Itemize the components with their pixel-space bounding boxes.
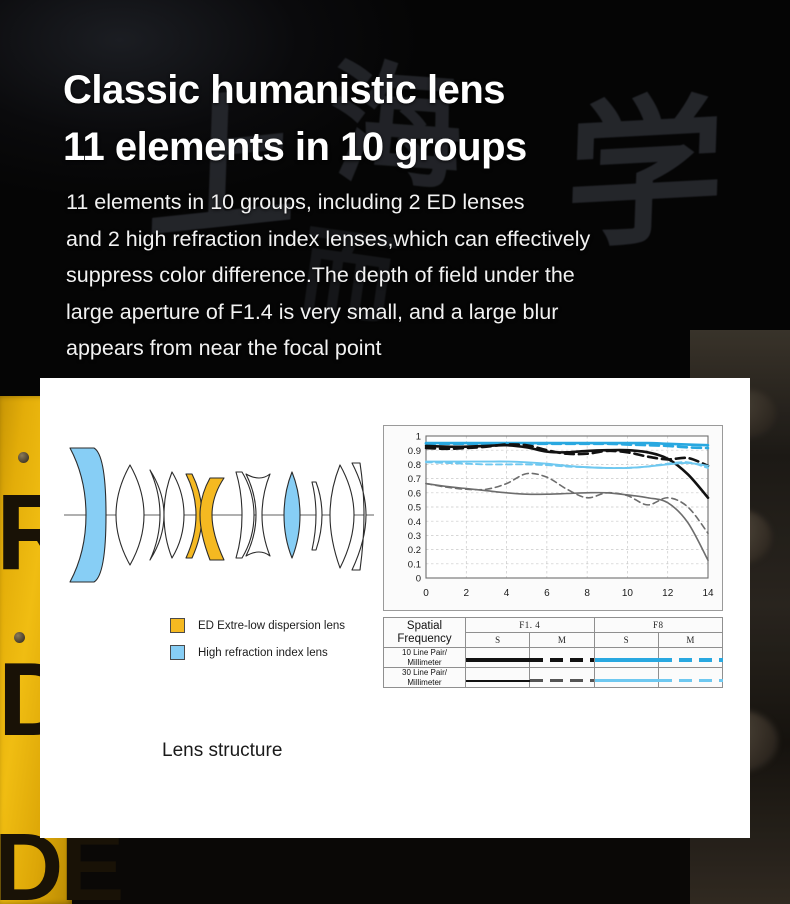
svg-text:0.6: 0.6 xyxy=(408,488,421,499)
description-line-1: 11 elements in 10 groups, including 2 ED… xyxy=(66,184,766,221)
high-refraction-color-swatch xyxy=(170,645,185,660)
svg-text:10: 10 xyxy=(622,588,634,599)
swatch-30-f14-s xyxy=(466,668,530,688)
legend-item-high-refraction: High refraction index lens xyxy=(170,645,345,660)
svg-text:0.2: 0.2 xyxy=(408,545,421,556)
swatch-10-f14-m xyxy=(530,648,594,668)
swatch-10-f8-s xyxy=(594,648,658,668)
svg-text:4: 4 xyxy=(504,588,510,599)
row-label-30lpmm: 30 Line Pair/ Millimeter xyxy=(384,668,466,688)
spatial-frequency-header: Spatial Frequency xyxy=(384,618,466,648)
svg-text:0.5: 0.5 xyxy=(408,503,421,514)
swatch-30-f14-m xyxy=(530,668,594,688)
subheader-f14-m: M xyxy=(530,633,594,648)
mtf-chart: 00.10.20.30.40.50.60.70.80.9102468101214 xyxy=(384,426,724,612)
description-line-3: suppress color difference.The depth of f… xyxy=(66,257,766,294)
legend-item-ed: ED Extre-low dispersion lens xyxy=(170,618,345,633)
subheader-f14-s: S xyxy=(466,633,530,648)
ed-color-swatch xyxy=(170,618,185,633)
swatch-10-f8-m xyxy=(658,648,722,668)
row-label-line-1: 10 Line Pair/ xyxy=(384,648,465,658)
row-label-line-2: Millimeter xyxy=(384,678,465,688)
group-header-f14: F1. 4 xyxy=(466,618,595,633)
page-title: Classic humanistic lens 11 elements in 1… xyxy=(63,62,763,176)
svg-text:8: 8 xyxy=(584,588,590,599)
svg-text:0.8: 0.8 xyxy=(408,460,421,471)
group-header-f8: F8 xyxy=(594,618,723,633)
row-label-10lpmm: 10 Line Pair/ Millimeter xyxy=(384,648,466,668)
row-label-line-2: Millimeter xyxy=(384,658,465,668)
mtf-chart-frame: 00.10.20.30.40.50.60.70.80.9102468101214 xyxy=(383,425,723,611)
sf-header-line-1: Spatial xyxy=(384,620,465,633)
row-label-line-1: 30 Line Pair/ xyxy=(384,668,465,678)
table-row: 30 Line Pair/ Millimeter xyxy=(384,668,723,688)
headline-line-2: 11 elements in 10 groups xyxy=(63,119,763,176)
subheader-f8-m: M xyxy=(658,633,722,648)
svg-text:0.3: 0.3 xyxy=(408,531,421,542)
svg-text:0.4: 0.4 xyxy=(408,517,421,528)
svg-text:0.7: 0.7 xyxy=(408,474,421,485)
lens-legend: ED Extre-low dispersion lens High refrac… xyxy=(170,618,345,672)
description-line-5: appears from near the focal point xyxy=(66,330,766,367)
subheader-f8-s: S xyxy=(594,633,658,648)
swatch-30-f8-s xyxy=(594,668,658,688)
swatch-30-f8-m xyxy=(658,668,722,688)
lens-structure-panel: ED Extre-low dispersion lens High refrac… xyxy=(40,378,396,838)
description-paragraph: 11 elements in 10 groups, including 2 ED… xyxy=(66,184,766,367)
mtf-legend-table: Spatial Frequency F1. 4 F8 S M S M 10 Li… xyxy=(383,617,723,688)
lens-structure-caption: Lens structure xyxy=(162,740,282,762)
table-row: 10 Line Pair/ Millimeter xyxy=(384,648,723,668)
svg-text:0.9: 0.9 xyxy=(408,446,421,457)
swatch-10-f14-s xyxy=(466,648,530,668)
table-row-group-header: Spatial Frequency F1. 4 F8 xyxy=(384,618,723,633)
legend-label-high-refraction: High refraction index lens xyxy=(198,647,328,659)
sf-header-line-2: Frequency xyxy=(384,633,465,646)
svg-text:6: 6 xyxy=(544,588,550,599)
description-line-4: large aperture of F1.4 is very small, an… xyxy=(66,294,766,331)
svg-text:0.1: 0.1 xyxy=(408,559,421,570)
headline-line-1: Classic humanistic lens xyxy=(63,68,505,112)
description-line-2: and 2 high refraction index lenses,which… xyxy=(66,221,766,258)
mtf-panel: 00.10.20.30.40.50.60.70.80.9102468101214… xyxy=(383,425,723,685)
legend-label-ed: ED Extre-low dispersion lens xyxy=(198,620,345,632)
spec-card: ED Extre-low dispersion lens High refrac… xyxy=(40,378,750,838)
svg-text:1: 1 xyxy=(416,432,421,443)
svg-text:14: 14 xyxy=(702,588,714,599)
svg-text:2: 2 xyxy=(464,588,470,599)
svg-text:0: 0 xyxy=(416,574,421,585)
svg-text:12: 12 xyxy=(662,588,674,599)
svg-text:0: 0 xyxy=(423,588,429,599)
lens-structure-diagram xyxy=(64,430,374,600)
